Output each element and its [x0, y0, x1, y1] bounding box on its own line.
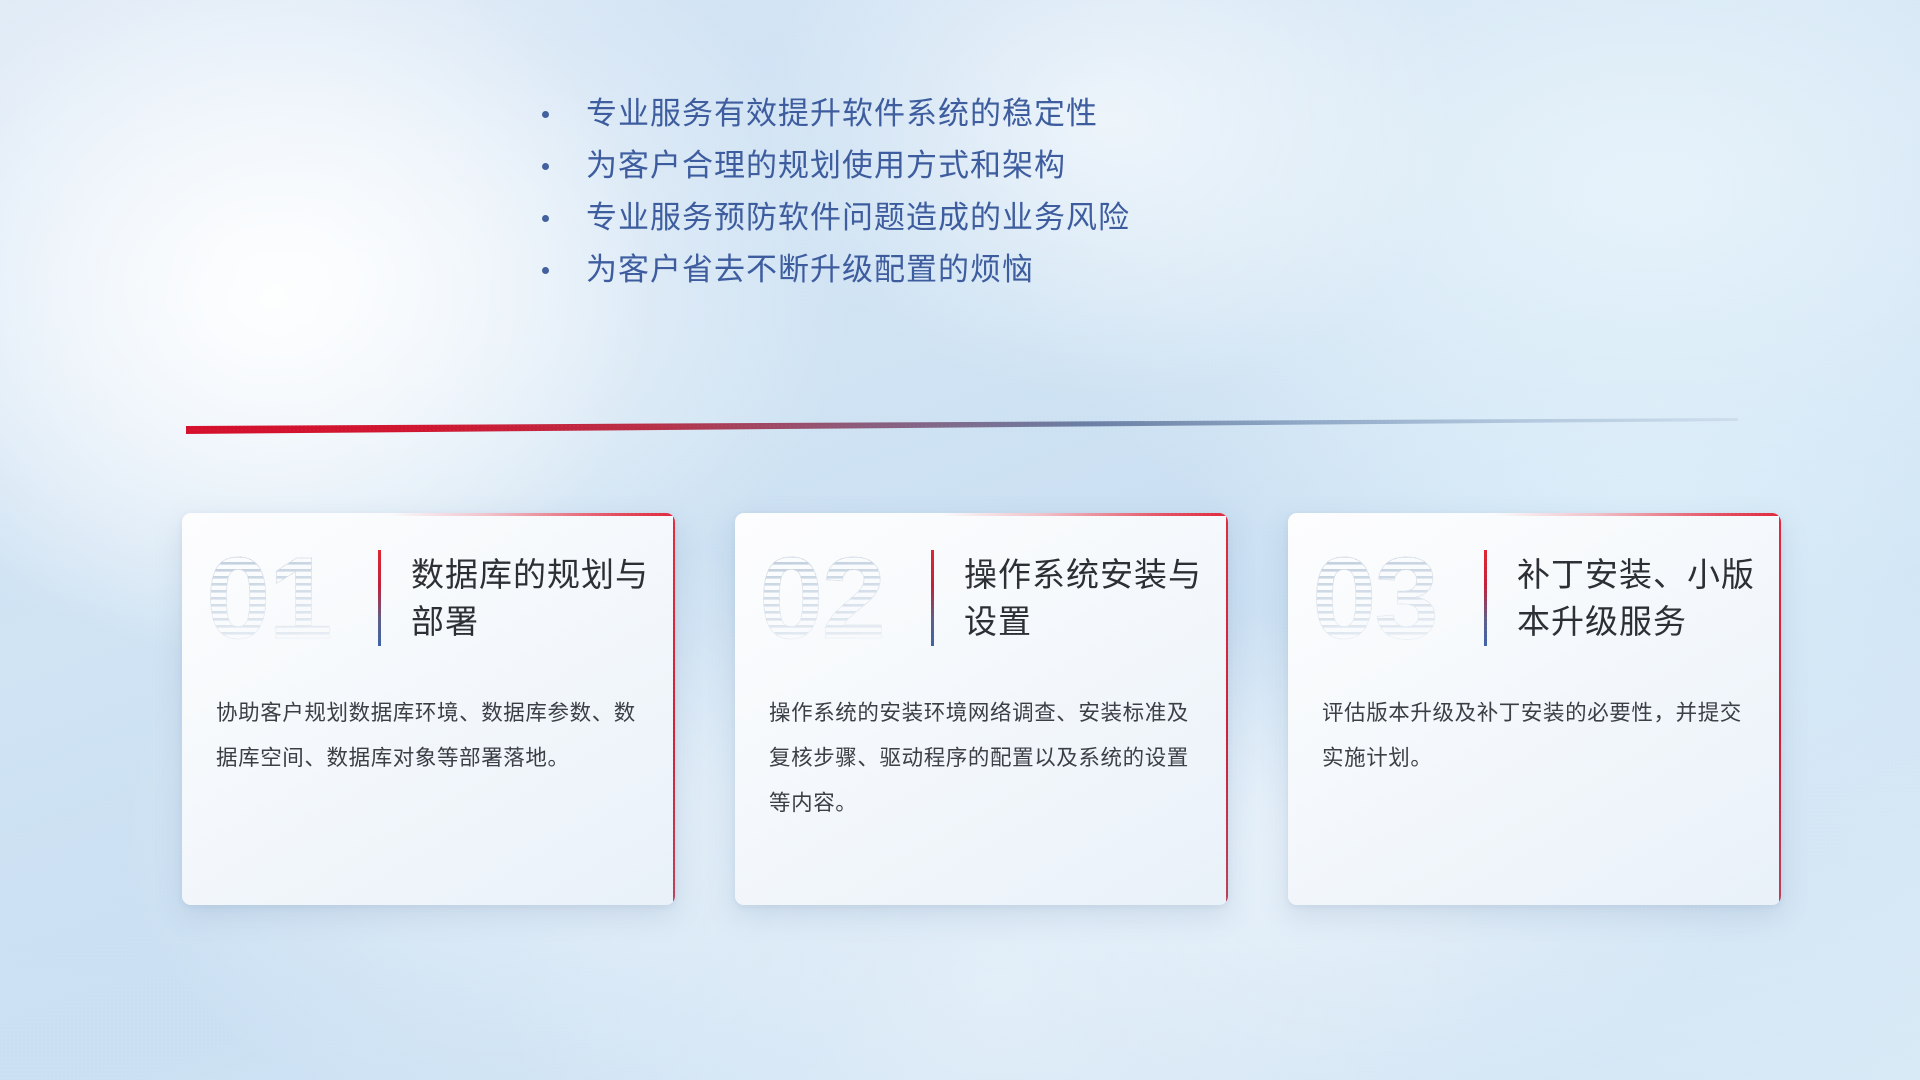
card-header: 03 03 03 补丁安装、小版本升级服务 [1288, 513, 1781, 683]
card-row: 01 01 01 数据库的规划与部署 协助客户规划数据库环境、数据库参数、数据库… [182, 513, 1782, 913]
bullet-text: 为客户合理的规划使用方式和架构 [586, 140, 1066, 192]
bullet-dot-icon [540, 140, 550, 192]
service-card-02[interactable]: 02 02 02 操作系统安装与设置 操作系统的安装环境网络调查、安装标准及复核… [735, 513, 1228, 905]
divider [186, 418, 1738, 440]
svg-text:03: 03 [1312, 534, 1437, 662]
card-accent-rule [931, 550, 934, 646]
bullet-text: 专业服务有效提升软件系统的稳定性 [586, 88, 1098, 140]
card-body-text: 协助客户规划数据库环境、数据库参数、数据库空间、数据库对象等部署落地。 [182, 683, 675, 781]
list-item: 为客户合理的规划使用方式和架构 [540, 140, 1440, 192]
bullet-text: 为客户省去不断升级配置的烦恼 [586, 244, 1034, 296]
list-item: 专业服务预防软件问题造成的业务风险 [540, 192, 1440, 244]
card-number-watermark-03: 03 03 03 [1310, 534, 1478, 662]
card-accent-rule [378, 550, 381, 646]
bullet-text: 专业服务预防软件问题造成的业务风险 [586, 192, 1130, 244]
card-title: 操作系统安装与设置 [964, 551, 1214, 645]
number-glyph-02-icon: 02 02 02 [757, 534, 925, 662]
card-body-text: 操作系统的安装环境网络调查、安装标准及复核步骤、驱动程序的配置以及系统的设置等内… [735, 683, 1228, 826]
card-title: 数据库的规划与部署 [411, 551, 661, 645]
card-header: 02 02 02 操作系统安装与设置 [735, 513, 1228, 683]
card-title: 补丁安装、小版本升级服务 [1517, 551, 1767, 645]
service-card-03[interactable]: 03 03 03 补丁安装、小版本升级服务 评估版本升级及补丁安装的必要性，并提… [1288, 513, 1781, 905]
bullet-dot-icon [540, 192, 550, 244]
list-item: 专业服务有效提升软件系统的稳定性 [540, 88, 1440, 140]
slide-canvas: 专业服务有效提升软件系统的稳定性 为客户合理的规划使用方式和架构 专业服务预防软… [0, 0, 1920, 1080]
list-item: 为客户省去不断升级配置的烦恼 [540, 244, 1440, 296]
svg-text:01: 01 [206, 534, 331, 662]
number-glyph-01-icon: 01 01 01 [204, 534, 372, 662]
service-card-01[interactable]: 01 01 01 数据库的规划与部署 协助客户规划数据库环境、数据库参数、数据库… [182, 513, 675, 905]
card-number-watermark-01: 01 01 01 [204, 534, 372, 662]
svg-text:02: 02 [759, 534, 884, 662]
card-accent-rule [1484, 550, 1487, 646]
card-header: 01 01 01 数据库的规划与部署 [182, 513, 675, 683]
bullet-list: 专业服务有效提升软件系统的稳定性 为客户合理的规划使用方式和架构 专业服务预防软… [540, 88, 1440, 296]
card-number-watermark-02: 02 02 02 [757, 534, 925, 662]
bullet-dot-icon [540, 244, 550, 296]
tapered-divider-shape [186, 418, 1738, 440]
card-body-text: 评估版本升级及补丁安装的必要性，并提交实施计划。 [1288, 683, 1781, 781]
bullet-dot-icon [540, 88, 550, 140]
number-glyph-03-icon: 03 03 03 [1310, 534, 1478, 662]
